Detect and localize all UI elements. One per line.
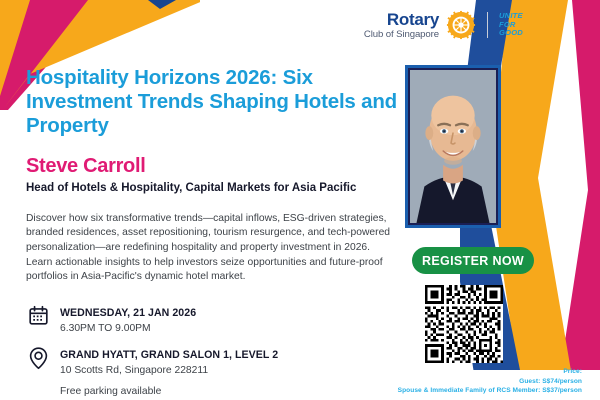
rotary-club-name: Club of Singapore	[364, 30, 439, 40]
detail-row-venue: GRAND HYATT, GRAND SALON 1, LEVEL 2 10 S…	[26, 344, 398, 378]
parking-note: Free parking available	[60, 386, 398, 397]
qr-code-icon[interactable]	[425, 285, 503, 363]
unite-for-good-tagline: UNITE FOR GOOD	[499, 12, 523, 39]
event-title: Hospitality Horizons 2026: Six Investmen…	[26, 66, 398, 138]
event-content: Hospitality Horizons 2026: Six Investmen…	[26, 66, 398, 397]
speaker-photo-frame	[405, 65, 501, 228]
speaker-name: Steve Carroll	[26, 155, 398, 177]
price-heading: Price:	[398, 367, 582, 377]
tagline-line-3: GOOD	[499, 29, 523, 38]
pricing-info: Price: Guest: S$74/person Spouse & Immed…	[398, 367, 582, 396]
rotary-wheel-icon	[446, 10, 476, 40]
speaker-role: Head of Hotels & Hospitality, Capital Ma…	[26, 181, 398, 196]
event-flyer: Rotary Club of Singapore	[0, 0, 600, 400]
price-member-family: Spouse & Immediate Family of RCS Member:…	[398, 386, 582, 396]
event-venue: GRAND HYATT, GRAND SALON 1, LEVEL 2	[60, 349, 278, 361]
event-description: Discover how six transformative trends—c…	[26, 212, 394, 285]
detail-text-date: WEDNESDAY, 21 JAN 2026 6.30PM TO 9.00PM	[60, 302, 196, 336]
speaker-photo	[408, 68, 498, 225]
speaker-block: Steve Carroll Head of Hotels & Hospitali…	[26, 155, 398, 196]
price-guest: Guest: S$74/person	[398, 377, 582, 387]
detail-row-date: WEDNESDAY, 21 JAN 2026 6.30PM TO 9.00PM	[26, 302, 398, 336]
event-address: 10 Scotts Rd, Singapore 228211	[60, 364, 278, 378]
event-date: WEDNESDAY, 21 JAN 2026	[60, 307, 196, 319]
detail-text-venue: GRAND HYATT, GRAND SALON 1, LEVEL 2 10 S…	[60, 344, 278, 378]
event-details: WEDNESDAY, 21 JAN 2026 6.30PM TO 9.00PM …	[26, 302, 398, 378]
location-pin-icon	[26, 345, 50, 371]
calendar-icon	[26, 303, 50, 329]
rotary-name: Rotary	[364, 11, 439, 28]
event-time: 6.30PM TO 9.00PM	[60, 322, 196, 336]
rotary-logo: Rotary Club of Singapore	[364, 10, 523, 40]
register-now-button[interactable]: REGISTER NOW	[412, 247, 534, 274]
rotary-wordmark: Rotary Club of Singapore	[364, 11, 439, 40]
logo-divider	[487, 12, 488, 38]
